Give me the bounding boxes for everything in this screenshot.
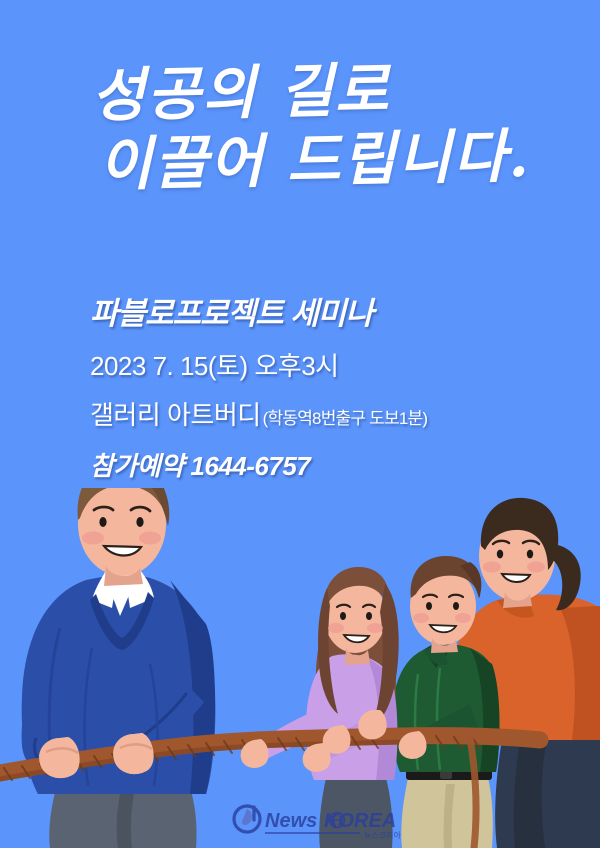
tug-of-war-illustration (0, 488, 600, 848)
venue-name: 갤러리 아트버디 (90, 400, 261, 430)
seminar-title: 파블로프로젝트 세미나 (90, 296, 550, 332)
watermark-sub-text: 뉴스코리아 (364, 830, 401, 840)
watermark-news-text: News (265, 810, 317, 832)
poster-headline: 성공의 길로 이끌어 드립니다. (91, 57, 564, 195)
poster-info-block: 파블로프로젝트 세미나 2023 7. 15(토) 오후3시 갤러리 아트버디(… (90, 296, 550, 483)
poster-canvas: 성공의 길로 이끌어 드립니다. 파블로프로젝트 세미나 2023 7. 15(… (0, 0, 600, 848)
venue-note: (학동역8번출구 도보1분) (263, 409, 428, 428)
headline-line-1: 성공의 길로 (91, 57, 562, 126)
event-venue: 갤러리 아트버디(학동역8번출구 도보1분) (90, 395, 550, 432)
newskorea-swirl-icon (234, 806, 260, 832)
event-date: 2023 7. 15(토) 오후3시 (90, 346, 550, 383)
reservation-phone: 참가예약 1644-6757 (90, 446, 550, 483)
newskorea-watermark: News KOREA 뉴스코리아 (232, 802, 402, 842)
headline-line-2: 이끌어 드립니다. (98, 126, 563, 195)
